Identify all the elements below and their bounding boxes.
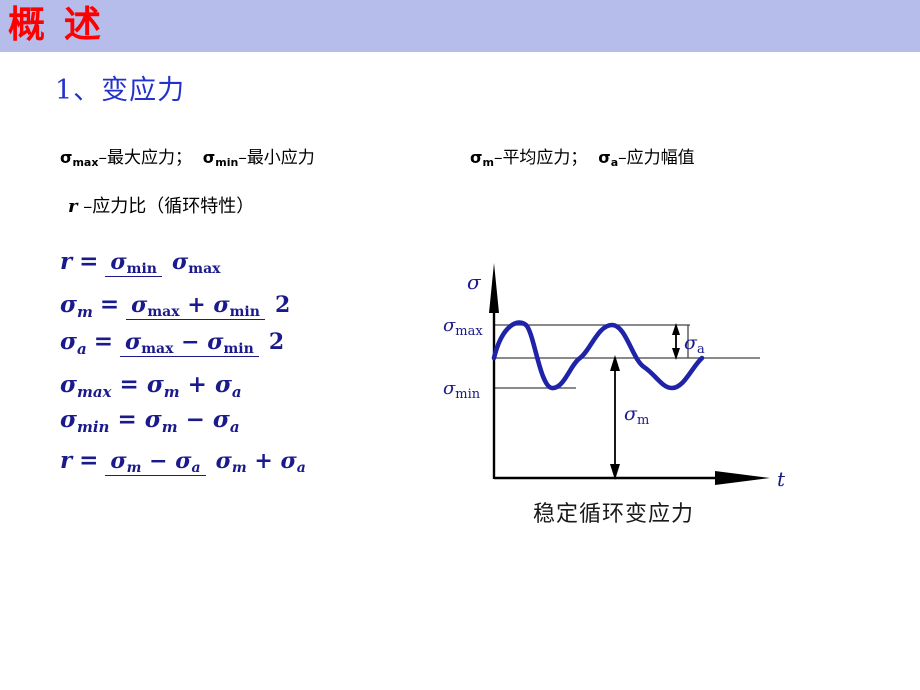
equals-sign: =: [79, 447, 98, 474]
time-axis-label: t: [777, 467, 786, 490]
formula-list: r = σmin σmax σm = σmax + σmin 2 σa = σm…: [60, 246, 390, 478]
equals-sign: =: [100, 291, 119, 318]
definition-text-mean: –平均应力；: [494, 148, 588, 168]
formula-lhs-r2: r: [60, 447, 72, 474]
symbol-sigma-max: σmax: [60, 148, 98, 167]
diagram-caption: 稳定循环变应力: [533, 496, 694, 528]
sigma-axis-label: σ: [467, 270, 482, 294]
formula-mean-stress: σm = σmax + σmin 2: [60, 291, 390, 318]
amplitude-label: σa: [684, 332, 705, 357]
stress-cycle-diagram: σ t σa σm σmax σmin: [440, 255, 810, 490]
definition-text-max: –最大应力；: [98, 148, 192, 168]
sigma-max-axis-label: σmax: [443, 315, 483, 339]
header-band: [0, 0, 920, 52]
fraction-denominator: 2: [270, 291, 295, 318]
section-heading: 1、变应力: [55, 68, 185, 107]
fraction-denominator: σmax: [167, 248, 225, 275]
fraction-numerator: σmax − σmin: [120, 329, 259, 357]
formula-lhs-sigma-m: σm: [60, 291, 93, 318]
formula-text-min: σmin = σm − σa: [60, 406, 240, 433]
fraction-ratio-mean: σm − σa σm + σa: [105, 448, 310, 474]
formula-stress-ratio: r = σmin σmax: [60, 248, 390, 275]
fraction-sigma-min-over-max: σmin σmax: [105, 249, 225, 275]
fraction-numerator: σm − σa: [105, 448, 205, 476]
definition-line-right: σm–平均应力； σa–应力幅值: [470, 143, 695, 168]
stress-wave-curve: [494, 323, 702, 388]
symbol-sigma-min: σmin: [203, 148, 239, 167]
slide-canvas: 概 述 1、变应力 σmax–最大应力； σmin–最小应力 σm–平均应力； …: [0, 0, 920, 690]
formula-min-stress: σmin = σm − σa: [60, 406, 390, 433]
fraction-denominator: 2: [264, 328, 289, 355]
equals-sign: =: [79, 248, 98, 275]
definition-line-left: σmax–最大应力； σmin–最小应力: [60, 143, 315, 168]
formula-lhs-r: r: [60, 248, 72, 275]
mean-label: σm: [624, 403, 649, 428]
sigma-axis-arrowhead-icon: [489, 263, 499, 313]
formula-ratio-from-mean: r = σm − σa σm + σa: [60, 447, 390, 474]
fraction-denominator: σm + σa: [211, 447, 311, 474]
fraction-mean: σmax + σmin 2: [126, 292, 295, 318]
formula-text-max: σmax = σm + σa: [60, 371, 242, 398]
definition-line-ratio: r –应力比（循环特性）: [68, 192, 254, 218]
symbol-sigma-m: σm: [470, 148, 494, 167]
sigma-min-axis-label: σmin: [443, 378, 481, 402]
time-axis-arrowhead-icon: [715, 471, 770, 485]
definition-text-amplitude: –应力幅值: [618, 148, 695, 168]
equals-sign: =: [94, 328, 113, 355]
symbol-sigma-a: σa: [598, 148, 618, 167]
definition-text-min: –最小应力: [238, 148, 315, 168]
definition-text-ratio: –应力比（循环特性）: [77, 196, 254, 217]
fraction-numerator: σmin: [105, 249, 162, 277]
formula-lhs-sigma-a: σa: [60, 328, 87, 355]
fraction-numerator: σmax + σmin: [126, 292, 265, 320]
formula-max-stress: σmax = σm + σa: [60, 371, 390, 398]
fraction-amplitude: σmax − σmin 2: [120, 329, 289, 355]
page-title: 概 述: [8, 1, 104, 49]
formula-stress-amplitude: σa = σmax − σmin 2: [60, 328, 390, 355]
